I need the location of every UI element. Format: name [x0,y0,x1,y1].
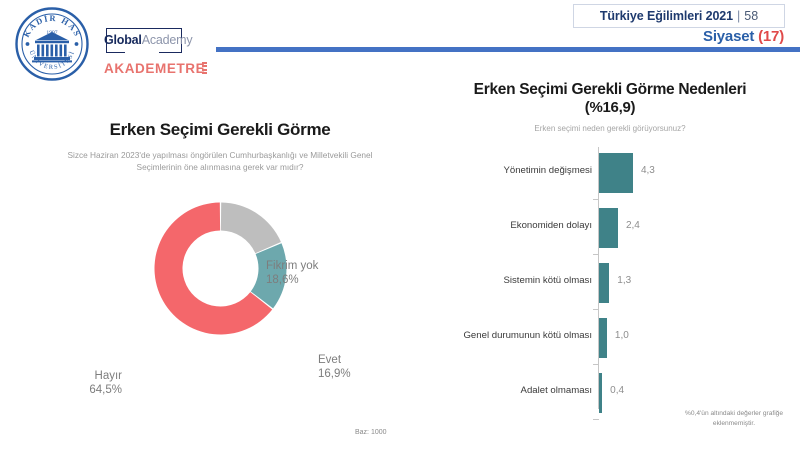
bar-row-label: Adalet olmaması [521,385,592,396]
bar-row-label: Genel durumunun kötü olması [463,330,592,341]
report-title-badge: Türkiye Eğilimleri 2021 | 58 [573,4,785,28]
akademetre-bars-icon [202,62,207,74]
donut-chart-area: Fikrim yok 18,6% Evet 16,9% Hayır 64,5% [30,181,410,381]
bar-row-value: 2,4 [626,220,640,231]
donut-label-evet-value: 16,9% [318,367,351,381]
donut-label-evet-name: Evet [318,353,351,367]
kadir-has-university-logo: KADİR HAS ÜNİVERSİTESİ 1997 [14,6,90,82]
global-academy-light-word: Academy [142,33,193,47]
base-size-label: Baz: 1000 [355,429,387,436]
bar-chart-footnote: %0,4'ün altındaki değerler grafiğe eklen… [678,409,790,428]
bar-row-bar [599,153,633,193]
report-title-separator: | [737,9,740,23]
bar-row-bar [599,208,618,248]
bar-row-value: 1,3 [617,275,631,286]
bar-chart-row: Ekonomiden dolayı2,4 [420,202,800,257]
bar-row-bar [599,263,609,303]
bar-row-bar [599,318,607,358]
report-title: Türkiye Eğilimleri 2021 [600,9,733,23]
bar-chart-row: Sistemin kötü olması1,3 [420,257,800,312]
akademetre-wordmark: AKADEMETRE [104,61,205,76]
global-academy-bold-word: Global [104,33,142,47]
section-count: (17) [758,28,784,45]
donut-label-hayir: Hayır 64,5% [89,369,122,398]
bar-row-label: Yönetimin değişmesi [503,165,592,176]
bar-chart-panel: Erken Seçimi Gerekli Görme Nedenleri (%1… [420,80,800,409]
bar-row-bar [599,373,602,413]
slide-canvas: KADİR HAS ÜNİVERSİTESİ 1997 [0,0,800,451]
section-name: Siyaset [703,28,754,45]
bar-chart-area: Yönetimin değişmesi4,3Ekonomiden dolayı2… [420,147,800,409]
bar-row-label: Sistemin kötü olması [503,275,592,286]
donut-chart-question: Sizce Haziran 2023'de yapılması öngörüle… [65,149,375,173]
donut-chart-title: Erken Seçimi Gerekli Görme [30,120,410,140]
university-seal-icon: KADİR HAS ÜNİVERSİTESİ 1997 [14,6,90,82]
slide-number: 58 [744,9,758,23]
donut-label-fikrim-yok-value: 18,6% [266,273,318,287]
bar-row-value: 1,0 [615,330,629,341]
bar-chart-title-text: Erken Seçimi Gerekli Görme Nedenleri [474,81,747,98]
bar-row-value: 4,3 [641,165,655,176]
bar-chart-row: Genel durumunun kötü olması1,0 [420,312,800,367]
akademetre-logo: AKADEMETRE [104,60,200,78]
donut-label-hayir-value: 64,5% [89,383,122,397]
donut-label-hayir-name: Hayır [89,369,122,383]
global-academy-wordmark: GlobalAcademy [104,33,200,47]
bar-chart-tick [593,419,599,420]
bar-chart-title: Erken Seçimi Gerekli Görme Nedenleri (%1… [420,80,800,118]
bar-row-label: Ekonomiden dolayı [510,220,592,231]
donut-label-fikrim-yok-name: Fikrim yok [266,259,318,273]
bar-chart-tick [593,309,599,310]
bar-chart-question: Erken seçimi neden gerekli görüyorsunuz? [420,124,800,133]
bar-row-value: 0,4 [610,385,624,396]
donut-slice [221,203,281,254]
donut-chart-panel: Erken Seçimi Gerekli Görme Sizce Haziran… [30,120,410,381]
bar-chart-tick [593,254,599,255]
donut-label-fikrim-yok: Fikrim yok 18,6% [266,259,318,288]
bar-chart-row: Yönetimin değişmesi4,3 [420,147,800,202]
header-divider-rule [216,47,800,52]
global-academy-logo: GlobalAcademy [104,28,200,54]
bar-chart-tick [593,199,599,200]
bar-chart-tick [593,364,599,365]
section-heading: Siyaset (17) [703,28,784,45]
donut-label-evet: Evet 16,9% [318,353,351,382]
bar-chart-title-percent: (%16,9) [420,99,800,118]
